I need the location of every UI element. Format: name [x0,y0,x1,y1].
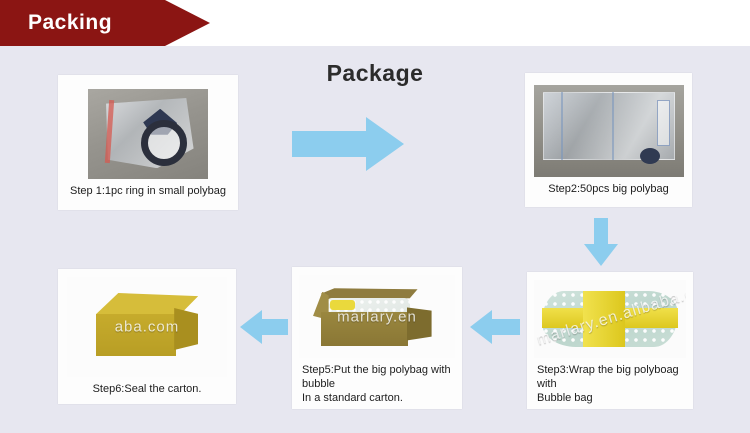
bag-seam-right-icon [612,92,614,160]
sealed-carton-front-icon [96,314,176,356]
arrow-step1-to-step2 [292,115,404,173]
banner-title: Packing [0,11,112,35]
step-3-photo: marlary.en.alibaba.co [534,280,686,358]
bag-content-icon [640,148,660,164]
ring-band-icon [141,120,187,166]
step-3-caption: Step3:Wrap the big polyboag with Bubble … [533,358,687,405]
step-1-card: Step 1:1pc ring in small polybag [58,75,238,210]
bag-label-icon [657,100,670,146]
step-1-photo [88,89,208,179]
yellow-tape-vertical-icon [583,291,626,347]
step-1-caption: Step 1:1pc ring in small polybag [64,179,232,198]
step-5-caption: Step5:Put the big polybag with bubble In… [298,358,456,405]
step-5-photo: marlary.en [299,275,455,358]
step-2-photo [534,85,684,177]
header-strip: Packing [0,0,750,46]
step-6-photo: aba.com [67,277,227,377]
step-2-card: Step2:50pcs big polybag [525,73,692,207]
step-2-caption: Step2:50pcs big polybag [531,177,686,196]
arrow-step2-to-step3 [584,218,618,266]
packing-infographic: Packing Package Step 1:1pc ring in small… [0,0,750,433]
step-5-card: marlary.en Step5:Put the big polybag wit… [292,267,462,409]
step-6-caption: Step6:Seal the carton. [64,377,230,396]
arrow-step3-to-step5 [470,310,520,344]
sealed-carton-side-icon [174,308,198,350]
bag-seam-left-icon [561,92,563,160]
yellow-packet-icon [330,300,355,310]
packing-banner: Packing [0,0,210,46]
arrow-step5-to-step6 [240,310,288,344]
carton-side-panel-icon [407,307,432,340]
step-6-card: aba.com Step6:Seal the carton. [58,269,236,404]
carton-front-panel-icon [321,312,408,345]
step-3-card: marlary.en.alibaba.co Step3:Wrap the big… [527,272,693,409]
